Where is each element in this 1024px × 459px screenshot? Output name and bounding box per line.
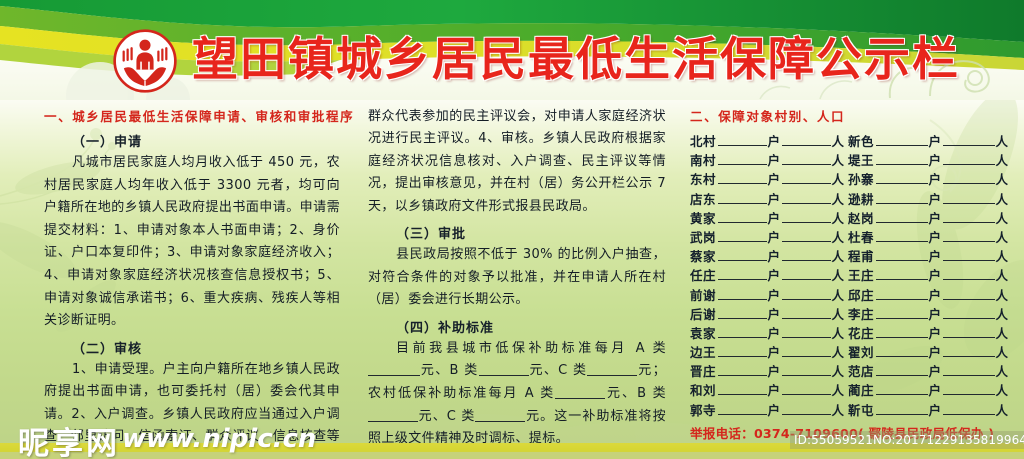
subsidy-blank-city-c[interactable]	[587, 363, 637, 376]
household-count-blank[interactable]	[718, 247, 766, 261]
household-count-blank[interactable]	[876, 286, 927, 300]
unit-person: 人	[832, 246, 845, 265]
household-count-blank[interactable]	[718, 151, 766, 165]
unit-person: 人	[832, 285, 845, 304]
unit-person: 人	[832, 380, 845, 399]
village-row-left: 晋庄户人	[690, 361, 844, 380]
unit-person: 人	[996, 285, 1009, 304]
unit-person: 人	[832, 208, 845, 227]
household-count-blank[interactable]	[718, 362, 766, 376]
unit-person: 人	[832, 342, 845, 361]
household-count-blank[interactable]	[718, 286, 766, 300]
unit-household: 户	[929, 150, 942, 169]
village-name: 晋庄	[690, 361, 716, 380]
unit-household: 户	[768, 246, 781, 265]
person-count-blank[interactable]	[943, 286, 994, 300]
person-count-blank[interactable]	[782, 132, 830, 146]
unit-household: 户	[768, 265, 781, 284]
household-count-blank[interactable]	[718, 132, 766, 146]
unit-person: 人	[832, 361, 845, 380]
unit-person: 人	[996, 400, 1009, 419]
household-count-blank[interactable]	[876, 209, 927, 223]
person-count-blank[interactable]	[782, 228, 830, 242]
person-count-blank[interactable]	[943, 247, 994, 261]
unit-household: 户	[929, 285, 942, 304]
unit-household: 户	[929, 265, 942, 284]
village-row-left: 东村户人	[690, 169, 844, 188]
column-right: 二、保障对象村别、人口 北村户人新色户人南村户人堤王户人东村户人孙寨户人店东户人…	[690, 106, 1008, 443]
village-row-right: 程甫户人	[848, 246, 1008, 265]
unit-household: 户	[929, 208, 942, 227]
household-count-blank[interactable]	[876, 381, 927, 395]
unit-household: 户	[768, 323, 781, 342]
unit-household: 户	[929, 131, 942, 150]
village-name: 范店	[848, 361, 874, 380]
household-count-blank[interactable]	[876, 362, 927, 376]
unit-person: 人	[996, 342, 1009, 361]
unit-household: 户	[929, 400, 942, 419]
subsidy-blank-rural-a[interactable]	[555, 386, 605, 399]
subsection-application-heading: （一）申请	[44, 131, 340, 150]
village-row-left: 北村户人	[690, 131, 844, 150]
unit-person: 人	[996, 169, 1009, 188]
unit-person: 人	[832, 265, 845, 284]
household-count-blank[interactable]	[718, 266, 766, 280]
village-name: 孙寨	[848, 169, 874, 188]
subsidy-text-1: 目前我县城市低保补助标准每月 A 类	[396, 341, 666, 356]
unit-person: 人	[832, 189, 845, 208]
village-row-right: 赵岗户人	[848, 208, 1008, 227]
person-count-blank[interactable]	[782, 362, 830, 376]
unit-household: 户	[929, 323, 942, 342]
village-name: 新色	[848, 131, 874, 150]
board-header: 望田镇城乡居民最低生活保障公示栏	[0, 0, 1024, 100]
unit-household: 户	[768, 361, 781, 380]
person-count-blank[interactable]	[943, 209, 994, 223]
person-count-blank[interactable]	[943, 401, 994, 415]
report-hotline: 举报电话：0374-7109600( 鄢陵县民政局低保办 )	[690, 423, 1008, 442]
village-row-right: 逊耕户人	[848, 189, 1008, 208]
subsection-review-heading: （二）审核	[44, 338, 340, 357]
household-count-blank[interactable]	[718, 170, 766, 184]
village-row-left: 边王户人	[690, 342, 844, 361]
household-count-blank[interactable]	[718, 209, 766, 223]
village-row-right: 蔺庄户人	[848, 380, 1008, 399]
person-count-blank[interactable]	[943, 381, 994, 395]
village-row-left: 袁家户人	[690, 323, 844, 342]
village-row-right: 邱庄户人	[848, 285, 1008, 304]
village-name: 郭寺	[690, 400, 716, 419]
person-count-blank[interactable]	[782, 151, 830, 165]
person-count-blank[interactable]	[782, 266, 830, 280]
village-name: 程甫	[848, 246, 874, 265]
village-row-right: 范店户人	[848, 361, 1008, 380]
village-name: 东村	[690, 169, 716, 188]
unit-person: 人	[996, 265, 1009, 284]
unit-person: 人	[996, 208, 1009, 227]
unit-household: 户	[768, 285, 781, 304]
village-row-left: 和刘户人	[690, 380, 844, 399]
unit-household: 户	[768, 380, 781, 399]
village-name: 后谢	[690, 304, 716, 323]
unit-household: 户	[768, 342, 781, 361]
village-row-right: 孙寨户人	[848, 169, 1008, 188]
village-row-left: 后谢户人	[690, 304, 844, 323]
village-name: 店东	[690, 189, 716, 208]
village-name: 边王	[690, 342, 716, 361]
page-title: 望田镇城乡居民最低生活保障公示栏	[192, 27, 992, 91]
household-count-blank[interactable]	[718, 343, 766, 357]
village-row-left: 店东户人	[690, 189, 844, 208]
paragraph-review-continued: 群众代表参加的民主评议会，对申请人家庭经济状况进行民主评议。4、审核。乡镇人民政…	[368, 106, 666, 218]
paragraph-approval: 县民政局按照不低于 30% 的比例入户抽查，对符合条件的对象予以批准，并在申请人…	[368, 244, 666, 312]
unit-person: 人	[832, 150, 845, 169]
village-row-right: 王庄户人	[848, 265, 1008, 284]
paragraph-review: 1、申请受理。户主向户籍所在地乡镇人民政府提出书面申请，也可委托村（居）委会代其…	[44, 359, 340, 443]
subsidy-blank-rural-c[interactable]	[475, 409, 525, 422]
household-count-blank[interactable]	[876, 343, 927, 357]
unit-household: 户	[768, 227, 781, 246]
unit-household: 户	[768, 169, 781, 188]
section-title-two: 二、保障对象村别、人口	[690, 106, 1008, 125]
person-count-blank[interactable]	[943, 170, 994, 184]
unit-household: 户	[768, 131, 781, 150]
subsidy-text-2: 元、B 类	[420, 363, 479, 378]
household-count-blank[interactable]	[718, 381, 766, 395]
unit-person: 人	[996, 380, 1009, 399]
board-body: 一、城乡居民最低生活保障申请、审核和审批程序 （一）申请 凡城市居民家庭人均月收…	[0, 100, 1024, 443]
village-row-right: 靳屯户人	[848, 400, 1008, 419]
unit-person: 人	[832, 227, 845, 246]
village-row-right: 李庄户人	[848, 304, 1008, 323]
person-count-blank[interactable]	[782, 209, 830, 223]
household-count-blank[interactable]	[718, 305, 766, 319]
unit-person: 人	[996, 361, 1009, 380]
village-name: 王庄	[848, 265, 874, 284]
column-left: 一、城乡居民最低生活保障申请、审核和审批程序 （一）申请 凡城市居民家庭人均月收…	[44, 106, 340, 443]
ministry-of-civil-affairs-emblem-icon	[112, 28, 178, 94]
village-name: 杜春	[848, 227, 874, 246]
unit-household: 户	[929, 169, 942, 188]
village-name: 黄家	[690, 208, 716, 227]
unit-household: 户	[768, 189, 781, 208]
household-count-blank[interactable]	[876, 228, 927, 242]
person-count-blank[interactable]	[943, 305, 994, 319]
village-name: 逊耕	[848, 189, 874, 208]
village-name: 北村	[690, 131, 716, 150]
person-count-blank[interactable]	[782, 170, 830, 184]
household-count-blank[interactable]	[876, 247, 927, 261]
person-count-blank[interactable]	[943, 132, 994, 146]
subsection-approval-heading: （三）审批	[368, 223, 666, 242]
section-title-one: 一、城乡居民最低生活保障申请、审核和审批程序	[44, 106, 340, 125]
person-count-blank[interactable]	[943, 151, 994, 165]
unit-household: 户	[929, 246, 942, 265]
village-row-right: 杜春户人	[848, 227, 1008, 246]
unit-person: 人	[996, 131, 1009, 150]
village-row-left: 蔡家户人	[690, 246, 844, 265]
person-count-blank[interactable]	[943, 324, 994, 338]
village-name: 武岗	[690, 227, 716, 246]
village-name: 前谢	[690, 285, 716, 304]
village-name: 袁家	[690, 323, 716, 342]
village-name: 靳屯	[848, 400, 874, 419]
household-count-blank[interactable]	[718, 228, 766, 242]
subsidy-text-6: 元、C 类	[418, 409, 475, 424]
person-count-blank[interactable]	[943, 228, 994, 242]
village-name: 蔺庄	[848, 380, 874, 399]
household-count-blank[interactable]	[718, 190, 766, 204]
unit-person: 人	[832, 323, 845, 342]
household-count-blank[interactable]	[876, 266, 927, 280]
person-count-blank[interactable]	[782, 401, 830, 415]
village-population-table: 北村户人新色户人南村户人堤王户人东村户人孙寨户人店东户人逊耕户人黄家户人赵岗户人…	[690, 131, 1008, 419]
person-count-blank[interactable]	[782, 286, 830, 300]
village-name: 任庄	[690, 265, 716, 284]
person-count-blank[interactable]	[782, 381, 830, 395]
paragraph-subsidy-standard: 目前我县城市低保补助标准每月 A 类元、B 类元、C 类元；农村低保补助标准每月…	[368, 338, 666, 443]
person-count-blank[interactable]	[943, 343, 994, 357]
unit-household: 户	[768, 150, 781, 169]
subsidy-text-5: 元、B 类	[605, 386, 666, 401]
village-row-left: 任庄户人	[690, 265, 844, 284]
person-count-blank[interactable]	[782, 190, 830, 204]
village-name: 翟刘	[848, 342, 874, 361]
column-middle: 群众代表参加的民主评议会，对申请人家庭经济状况进行民主评议。4、审核。乡镇人民政…	[368, 106, 666, 443]
unit-person: 人	[832, 131, 845, 150]
unit-household: 户	[929, 227, 942, 246]
subsection-subsidy-heading: （四）补助标准	[368, 317, 666, 336]
unit-person: 人	[996, 227, 1009, 246]
unit-household: 户	[929, 342, 942, 361]
person-count-blank[interactable]	[782, 247, 830, 261]
publicity-board: 望田镇城乡居民最低生活保障公示栏	[0, 0, 1024, 459]
person-count-blank[interactable]	[782, 343, 830, 357]
village-row-right: 花庄户人	[848, 323, 1008, 342]
household-count-blank[interactable]	[876, 401, 927, 415]
village-row-left: 武岗户人	[690, 227, 844, 246]
village-name: 花庄	[848, 323, 874, 342]
village-name: 赵岗	[848, 208, 874, 227]
unit-person: 人	[832, 169, 845, 188]
unit-person: 人	[996, 246, 1009, 265]
household-count-blank[interactable]	[876, 305, 927, 319]
person-count-blank[interactable]	[943, 362, 994, 376]
person-count-blank[interactable]	[943, 266, 994, 280]
village-row-left: 郭寺户人	[690, 400, 844, 419]
village-row-right: 翟刘户人	[848, 342, 1008, 361]
village-row-right: 堤王户人	[848, 150, 1008, 169]
household-count-blank[interactable]	[876, 132, 927, 146]
household-count-blank[interactable]	[718, 324, 766, 338]
household-count-blank[interactable]	[876, 170, 927, 184]
village-name: 李庄	[848, 304, 874, 323]
village-name: 邱庄	[848, 285, 874, 304]
unit-person: 人	[996, 189, 1009, 208]
subsidy-blank-city-a[interactable]	[368, 363, 420, 376]
subsidy-blank-rural-b[interactable]	[368, 409, 418, 422]
household-count-blank[interactable]	[876, 324, 927, 338]
person-count-blank[interactable]	[782, 324, 830, 338]
unit-person: 人	[832, 400, 845, 419]
unit-household: 户	[929, 380, 942, 399]
unit-household: 户	[768, 304, 781, 323]
village-name: 和刘	[690, 380, 716, 399]
village-row-left: 黄家户人	[690, 208, 844, 227]
village-row-right: 新色户人	[848, 131, 1008, 150]
village-name: 南村	[690, 150, 716, 169]
village-row-left: 前谢户人	[690, 285, 844, 304]
unit-household: 户	[768, 208, 781, 227]
village-name: 堤王	[848, 150, 874, 169]
village-name: 蔡家	[690, 246, 716, 265]
subsidy-blank-city-b[interactable]	[479, 363, 529, 376]
household-count-blank[interactable]	[876, 151, 927, 165]
household-count-blank[interactable]	[718, 401, 766, 415]
unit-household: 户	[929, 361, 942, 380]
subsidy-text-3: 元、C 类	[529, 363, 588, 378]
village-row-left: 南村户人	[690, 150, 844, 169]
unit-person: 人	[832, 304, 845, 323]
unit-household: 户	[929, 189, 942, 208]
unit-person: 人	[996, 304, 1009, 323]
unit-person: 人	[996, 323, 1009, 342]
unit-person: 人	[996, 150, 1009, 169]
person-count-blank[interactable]	[943, 190, 994, 204]
household-count-blank[interactable]	[876, 190, 927, 204]
person-count-blank[interactable]	[782, 305, 830, 319]
paragraph-application: 凡城市居民家庭人均月收入低于 450 元，农村居民家庭人均年收入低于 3300 …	[44, 152, 340, 333]
unit-household: 户	[768, 400, 781, 419]
footer-green-band	[0, 452, 1024, 459]
unit-household: 户	[929, 304, 942, 323]
